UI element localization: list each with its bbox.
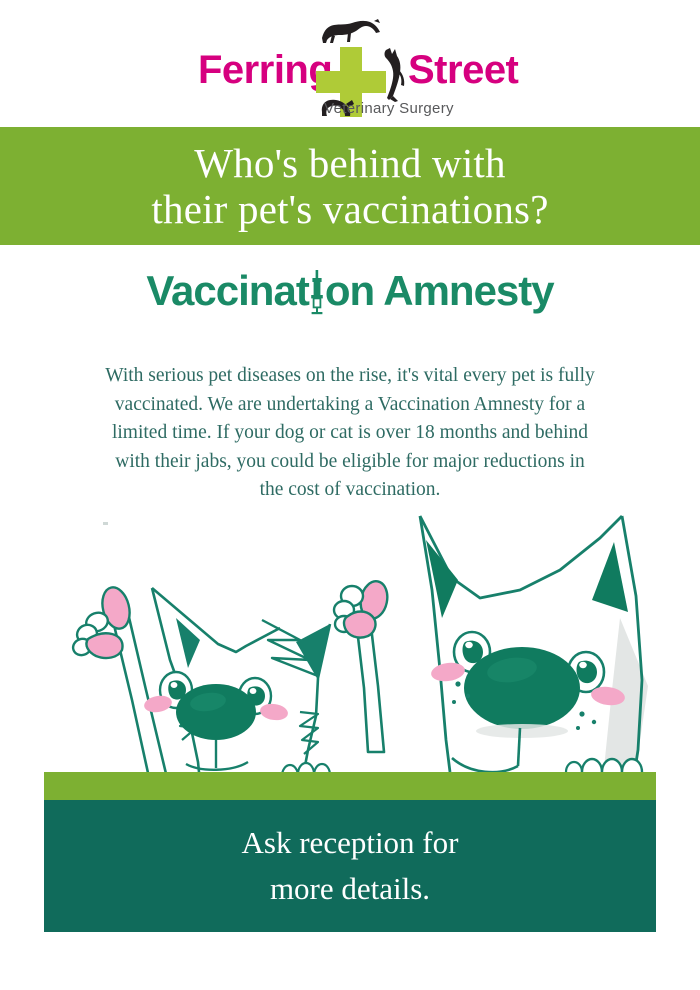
- cta-line-1: Ask reception for: [242, 820, 459, 866]
- headline-line-2: their pet's vaccinations?: [151, 186, 548, 232]
- cta-green-strip: [44, 772, 656, 800]
- page-title-part-2: on Amnesty: [325, 267, 554, 315]
- logo-header: Ferring Street: [0, 0, 700, 127]
- illustration-artifact: [103, 522, 108, 525]
- body-paragraph: With serious pet diseases on the rise, i…: [60, 362, 640, 505]
- cta-panel: Ask reception for more details.: [44, 772, 656, 932]
- body-line: vaccinated. We are undertaking a Vaccina…: [60, 391, 640, 420]
- body-line: With serious pet diseases on the rise, i…: [60, 362, 640, 391]
- cta-line-2: more details.: [270, 866, 430, 912]
- page-title-part-1: Vaccinat: [146, 267, 308, 315]
- logo-word-street: Street: [408, 48, 518, 93]
- headline-line-1: Who's behind with: [194, 140, 505, 186]
- syringe-icon: [309, 270, 325, 316]
- body-line: with their jabs, you could be eligible f…: [60, 448, 640, 477]
- cat-silhouette-icon: [378, 46, 406, 107]
- logo-lockup: Ferring Street: [0, 18, 700, 113]
- pet-illustration: [0, 500, 700, 800]
- body-line: limited time. If your dog or cat is over…: [60, 419, 640, 448]
- page-title: Vaccinat on Amnesty: [0, 262, 700, 320]
- headline-banner: Who's behind with their pet's vaccinatio…: [0, 127, 700, 245]
- dog-silhouette-icon: [318, 18, 384, 49]
- logo-subtitle: Veterinary Surgery: [0, 100, 700, 117]
- cta-message: Ask reception for more details.: [44, 800, 656, 932]
- cat-line-art-left: [71, 584, 330, 787]
- cat-line-art-right: [334, 516, 648, 785]
